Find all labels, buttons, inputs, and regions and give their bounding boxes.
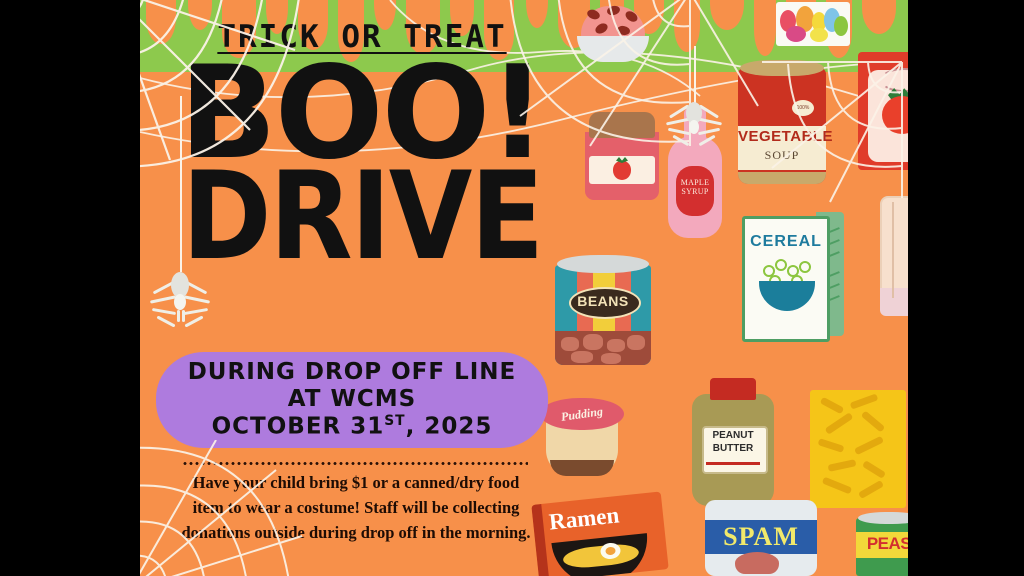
- syrup-label-line2: SYRUP: [681, 187, 708, 196]
- cereal-box-label: CEREAL: [745, 233, 827, 251]
- event-details-banner: DURING DROP OFF LINE AT WCMS OCTOBER 31S…: [156, 352, 548, 448]
- spider-left-icon: [162, 96, 198, 326]
- screenshot-canvas: MAPLE SYRUP 100% VEGETABLE SOUP: [0, 0, 1024, 576]
- cereal-box-illustration: CEREAL: [742, 212, 844, 336]
- banner-date-ordinal: ST: [384, 413, 405, 429]
- instructions-text: Have your child bring $1 or a canned/dry…: [176, 470, 536, 545]
- spider-right-icon: [678, 46, 710, 156]
- pale-jar-illustration: [880, 196, 908, 316]
- beans-can-illustration: BEANS: [555, 255, 651, 365]
- soup-label-line2: SOUP: [738, 148, 826, 163]
- spam-can-illustration: SPAM: [705, 500, 817, 576]
- bowl-of-beans-illustration: [577, 2, 649, 62]
- beans-can-label: BEANS: [569, 287, 637, 315]
- peas-can-illustration: PEAS: [856, 512, 908, 576]
- strawberry-jam-jar-illustration: [583, 112, 661, 200]
- peanut-butter-jar-illustration: PEANUT BUTTER: [692, 378, 774, 506]
- peas-label: PEAS: [856, 534, 908, 554]
- banner-line-location-1: DURING DROP OFF LINE: [188, 359, 517, 386]
- soup-label-line1: VEGETABLE: [738, 128, 826, 145]
- halloween-food-drive-poster: MAPLE SYRUP 100% VEGETABLE SOUP: [140, 0, 908, 576]
- dotted-divider: [182, 462, 528, 465]
- letterbox-bar-right: [908, 0, 1024, 576]
- spam-label: SPAM: [705, 522, 817, 552]
- letterbox-bar-left: [0, 0, 140, 576]
- vegetable-soup-can-illustration: 100% VEGETABLE SOUP: [738, 60, 826, 184]
- pudding-cup-illustration: Pudding: [540, 398, 624, 476]
- banner-date-suffix: , 2025: [406, 414, 493, 440]
- poster-headline-block: TRICK OR TREAT BOO! DRIVE: [162, 22, 562, 260]
- banner-date-prefix: OCTOBER 31: [212, 414, 385, 440]
- candy-pack-illustration: [776, 2, 850, 46]
- pasta-box-illustration: [810, 390, 906, 508]
- banner-line-location-2: AT WCMS: [288, 386, 416, 413]
- tomato-can-illustration: [858, 52, 908, 170]
- banner-line-date: OCTOBER 31ST, 2025: [212, 413, 493, 441]
- pb-label-line1: PEANUT: [712, 430, 753, 441]
- ramen-pack-illustration: Ramen: [535, 498, 665, 576]
- pb-label-line2: BUTTER: [713, 443, 754, 454]
- drive-heading: DRIVE: [162, 163, 562, 272]
- syrup-label-line1: MAPLE: [681, 178, 710, 187]
- soup-badge: 100%: [792, 100, 814, 116]
